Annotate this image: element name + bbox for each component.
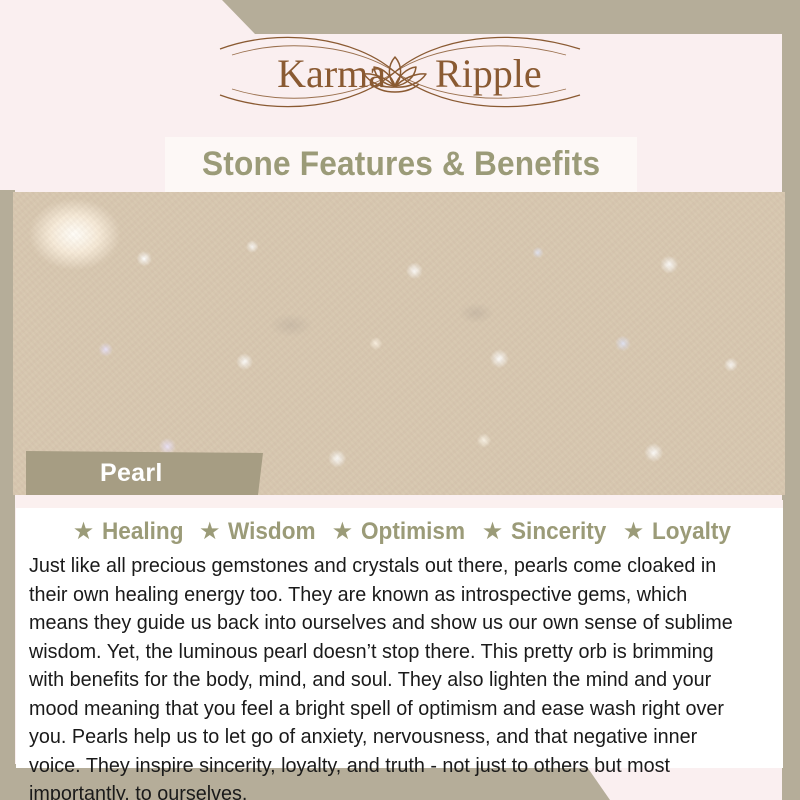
- keyword-item-loyalty: ★ Loyalty: [613, 518, 737, 546]
- star-icon: ★: [73, 520, 95, 544]
- keyword-list: ★ Healing ★ Wisdom ★ Optimism ★ Sincerit…: [16, 518, 783, 546]
- stone-name-plate: Pearl: [26, 451, 263, 495]
- keyword-label: Wisdom: [228, 518, 316, 546]
- brand-name-left: Karma: [277, 51, 386, 96]
- pearl-photo: Pearl: [13, 192, 785, 495]
- keyword-label: Loyalty: [652, 518, 731, 546]
- star-icon: ★: [623, 520, 645, 544]
- keyword-item-optimism: ★ Optimism: [322, 518, 472, 546]
- keyword-item-wisdom: ★ Wisdom: [189, 518, 322, 546]
- keyword-label: Optimism: [361, 518, 465, 546]
- pearl-photo-grain: [13, 192, 785, 495]
- star-icon: ★: [482, 520, 504, 544]
- star-icon: ★: [199, 520, 221, 544]
- title-banner: Stone Features & Benefits: [165, 137, 637, 192]
- keyword-label: Healing: [102, 518, 183, 546]
- stone-name: Pearl: [100, 459, 163, 488]
- content-card: ★ Healing ★ Wisdom ★ Optimism ★ Sincerit…: [16, 500, 783, 768]
- keyword-item-healing: ★ Healing: [63, 518, 189, 546]
- brand-name-right: Ripple: [435, 51, 542, 96]
- brand-logo: Karma Ripple: [0, 28, 800, 116]
- brand-logo-svg: Karma Ripple: [190, 29, 610, 115]
- page-title: Stone Features & Benefits: [202, 145, 600, 184]
- keyword-label: Sincerity: [511, 518, 606, 546]
- stone-description: Just like all precious gemstones and cry…: [29, 552, 741, 800]
- keyword-item-sincerity: ★ Sincerity: [472, 518, 613, 546]
- infographic-page: Karma Ripple Stone Features & Benefits P…: [0, 0, 800, 800]
- star-icon: ★: [332, 520, 354, 544]
